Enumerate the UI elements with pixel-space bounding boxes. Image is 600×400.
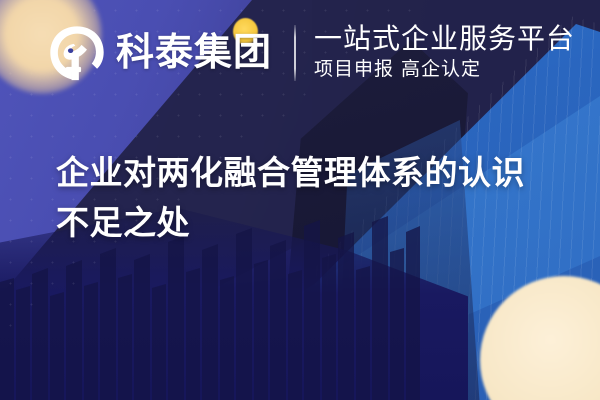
headline-block: 企业对两化融合管理体系的认识 不足之处 (56, 148, 556, 248)
brand-divider (294, 25, 296, 81)
tagline-sub: 项目申报 高企认定 (314, 57, 575, 83)
headline-line-2: 不足之处 (56, 198, 556, 248)
ketai-circle-logo-icon (48, 24, 106, 82)
tagline-main: 一站式企业服务平台 (314, 24, 575, 55)
headline-line-1: 企业对两化融合管理体系的认识 (56, 148, 556, 198)
company-name: 科泰集团 (116, 34, 272, 72)
tagline-group: 一站式企业服务平台 项目申报 高企认定 (314, 24, 575, 82)
promo-banner: 科泰集团 一站式企业服务平台 项目申报 高企认定 企业对两化融合管理体系的认识 … (0, 0, 600, 400)
brand-header: 科泰集团 一站式企业服务平台 项目申报 高企认定 (48, 24, 575, 82)
